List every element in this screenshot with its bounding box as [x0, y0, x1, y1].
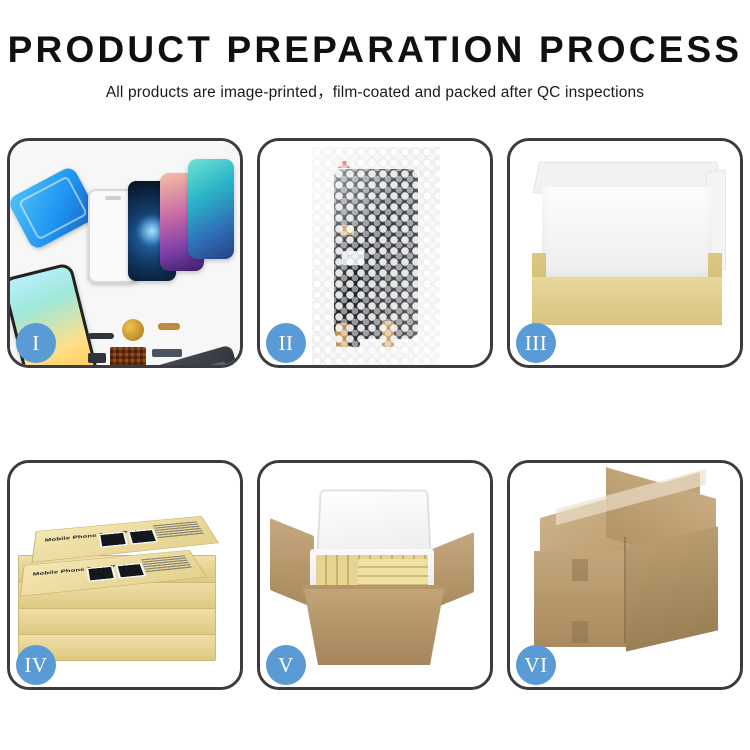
step-badge-2: II — [266, 323, 306, 363]
step-badge-1: I — [16, 323, 56, 363]
box-art-screen-a — [86, 566, 116, 582]
spare-part-mesh-grid — [110, 347, 146, 365]
step-panel-3: III — [507, 138, 743, 368]
bubble-wrap-bag — [312, 147, 440, 365]
spare-part-flex-gold — [158, 323, 180, 330]
bag-sheen — [312, 147, 440, 365]
spare-part-flex-cable — [152, 349, 182, 357]
carton-side-face — [626, 526, 718, 651]
carton-vertical-edge — [624, 537, 626, 643]
step-badge-5: V — [266, 645, 306, 685]
box-spec-lines-lower — [141, 555, 193, 573]
spare-part-strip — [88, 333, 114, 339]
step-panel-2: II — [257, 138, 493, 368]
box-art-screen-d — [127, 529, 158, 545]
page-header: PRODUCT PREPARATION PROCESS All products… — [0, 0, 750, 102]
page-subtitle: All products are image-printed，film-coat… — [0, 80, 750, 102]
box-spec-lines-upper — [153, 521, 205, 539]
process-steps-grid: I II — [7, 138, 743, 690]
box-art-screen-c — [98, 532, 128, 548]
blue-adhesive-part — [10, 165, 99, 251]
page-title: PRODUCT PREPARATION PROCESS — [0, 30, 750, 71]
teal-phone-screen — [188, 159, 234, 259]
infographic-page: PRODUCT PREPARATION PROCESS All products… — [0, 0, 750, 750]
step-panel-6: VI — [507, 460, 743, 690]
box-art-screen-b — [115, 563, 146, 579]
step-badge-4: IV — [16, 645, 56, 685]
spare-part-small-a — [88, 353, 106, 363]
carton-body — [304, 589, 444, 665]
stacked-box-2 — [18, 607, 216, 635]
box-front-panel — [532, 277, 722, 325]
step-panel-5: V — [257, 460, 493, 690]
step-panel-4: Mobile Phone Spare Parts Mobile Phone Sp… — [7, 460, 243, 690]
white-foam-sheet — [542, 187, 712, 281]
step-panel-1: I — [7, 138, 243, 368]
carton-seam-lower — [572, 621, 588, 643]
carton-seam-upper — [572, 559, 588, 581]
step-badge-6: VI — [516, 645, 556, 685]
spare-part-speaker — [122, 319, 144, 341]
step-badge-3: III — [516, 323, 556, 363]
